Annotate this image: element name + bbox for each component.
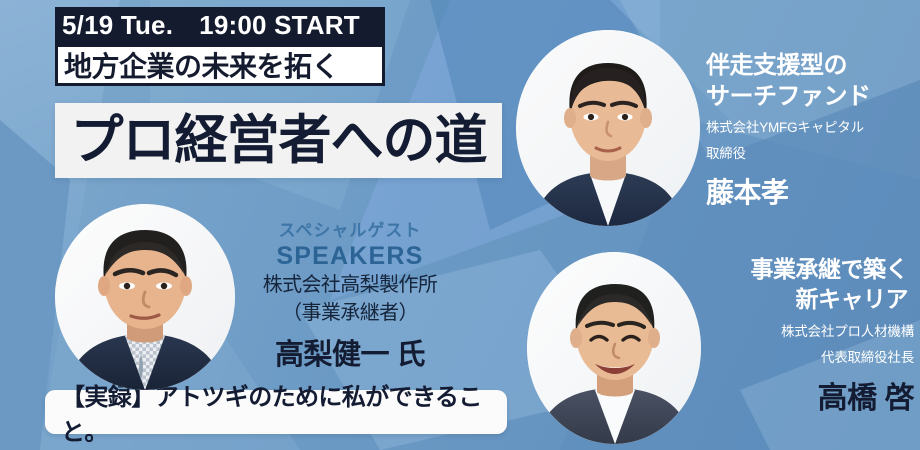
guest-org: 株式会社高梨製作所 — [215, 273, 485, 299]
avatar-takanashi-image — [55, 204, 235, 390]
speaker-name: 藤本孝 — [706, 171, 912, 211]
event-start-time: 19:00 START — [199, 10, 360, 41]
avatar-fujimoto — [516, 30, 700, 226]
speaker-org: 株式会社YMFGキャピタル — [706, 119, 912, 137]
speaker-headline-line2: 新キャリア — [700, 284, 914, 314]
speaker-org: 株式会社プロ人材機構 — [700, 323, 914, 341]
footer-note-ribbon: 【実録】アトツギのために私ができること。 — [45, 390, 507, 434]
speaker-headline-line2: サーチファンド — [706, 81, 912, 112]
event-title-block: プロ経営者への道 — [55, 103, 502, 178]
speaker-name: 高橋 啓 — [700, 373, 914, 417]
guest-kicker: スペシャルゲスト — [215, 216, 485, 241]
guest-role: （事業承継者） — [215, 301, 485, 327]
avatar-takanashi — [55, 204, 235, 390]
avatar-takahashi-image — [527, 252, 701, 444]
event-date-bar: 5/19 Tue. 19:00 START — [55, 7, 385, 44]
speakers-label: SPEAKERS — [215, 242, 485, 271]
speaker-panel-takanashi: スペシャルゲスト SPEAKERS 株式会社高梨製作所 （事業承継者） 高梨健一… — [215, 216, 485, 373]
event-date: 5/19 Tue. — [62, 10, 173, 41]
speaker-panel-fujimoto: 伴走支援型の サーチファンド 株式会社YMFGキャピタル 取締役 藤本孝 — [706, 50, 912, 211]
speaker-panel-takahashi: 事業承継で築く 新キャリア 株式会社プロ人材機構 代表取締役社長 高橋 啓 — [700, 254, 914, 417]
speaker-role: 取締役 — [706, 145, 912, 163]
page-title: プロ経営者への道 — [71, 114, 487, 167]
guest-name: 高梨健一 氏 — [215, 331, 485, 373]
avatar-takahashi — [527, 252, 701, 444]
event-subtitle-bar: 地方企業の未来を拓く — [55, 44, 385, 86]
speaker-headline-line1: 事業承継で築く — [700, 254, 914, 284]
speaker-role: 代表取締役社長 — [700, 349, 914, 367]
avatar-fujimoto-image — [516, 30, 700, 226]
speaker-headline-line1: 伴走支援型の — [706, 50, 912, 81]
event-banner: 5/19 Tue. 19:00 START 地方企業の未来を拓く プロ経営者への… — [0, 0, 920, 450]
event-subtitle: 地方企業の未来を拓く — [64, 45, 339, 85]
